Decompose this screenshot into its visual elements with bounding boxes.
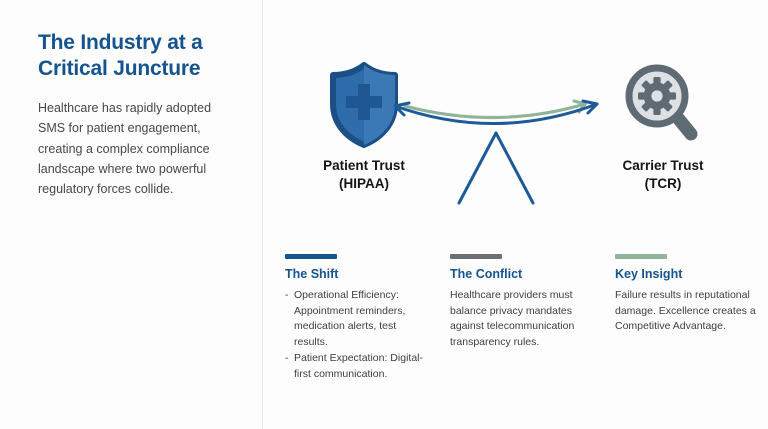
diagram-connector [381, 86, 611, 206]
list-item: Operational Efficiency: Appointment remi… [285, 288, 428, 350]
slide-root: The Industry at a Critical Juncture Heal… [0, 0, 768, 429]
insight-column-key-insight: Key Insight Failure results in reputatio… [615, 254, 758, 383]
diagram-node-label-carrier-trust: Carrier Trust (TCR) [583, 157, 743, 194]
column-body: Operational Efficiency: Appointment remi… [285, 288, 428, 382]
page-intro-text: Healthcare has rapidly adopted SMS for p… [38, 98, 234, 199]
column-body: Healthcare providers must balance privac… [450, 288, 593, 350]
v-collision-lines [459, 133, 533, 203]
diagram-node-carrier-trust: Carrier Trust (TCR) [583, 62, 743, 194]
column-body: Failure results in reputational damage. … [615, 288, 758, 335]
column-paragraph: Failure results in reputational damage. … [615, 288, 758, 335]
column-title: Key Insight [615, 267, 758, 281]
insight-column-the-shift: The Shift Operational Efficiency: Appoin… [285, 254, 428, 383]
column-accent-bar [285, 254, 337, 259]
right-panel: Patient Trust (HIPAA) [263, 0, 768, 429]
left-panel: The Industry at a Critical Juncture Heal… [0, 0, 263, 429]
column-paragraph: Healthcare providers must balance privac… [450, 288, 593, 350]
column-accent-bar [615, 254, 667, 259]
column-accent-bar [450, 254, 502, 259]
list-item: Patient Expectation: Digital-first commu… [285, 351, 428, 382]
column-title: The Shift [285, 267, 428, 281]
insight-columns: The Shift Operational Efficiency: Appoin… [285, 254, 758, 383]
diagram-area: Patient Trust (HIPAA) [263, 0, 768, 215]
column-title: The Conflict [450, 267, 593, 281]
page-title: The Industry at a Critical Juncture [38, 30, 234, 81]
insight-column-the-conflict: The Conflict Healthcare providers must b… [450, 254, 593, 383]
magnifier-gear-icon [583, 62, 743, 148]
